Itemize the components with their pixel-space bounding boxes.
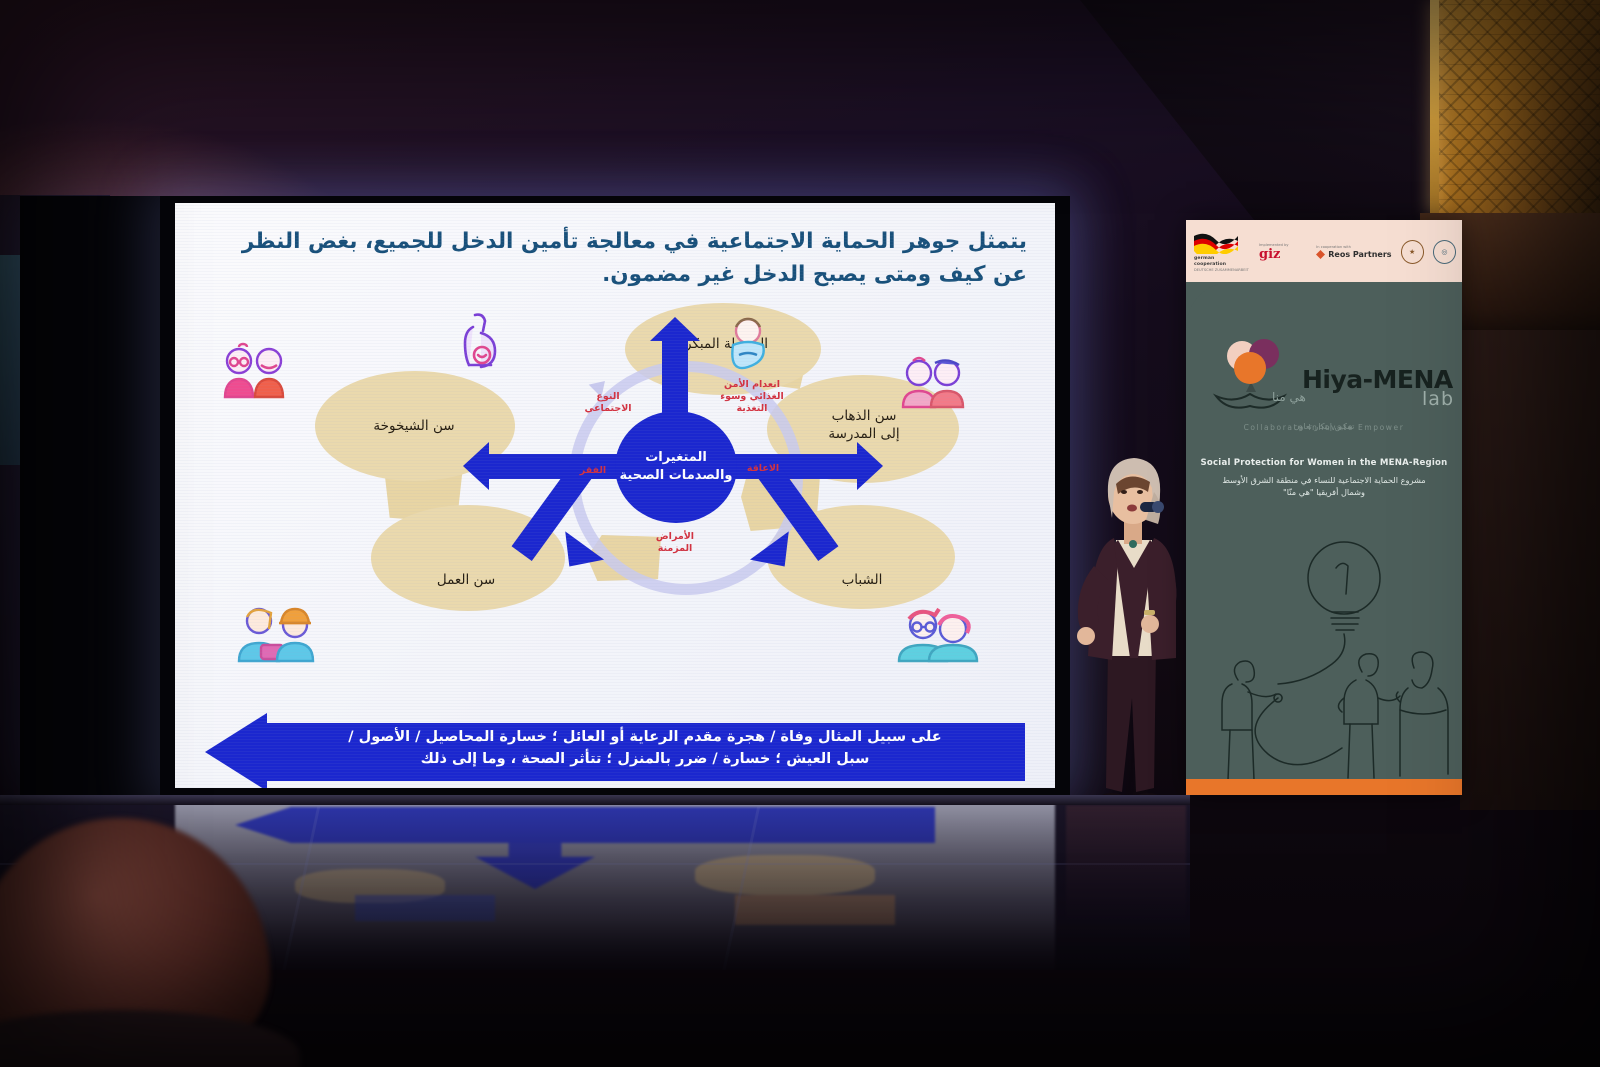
balloons-in-hand-logo — [1212, 332, 1298, 418]
lobe-label-working-age: سن العمل — [373, 571, 559, 589]
risk-label-food-insecurity: انعدام الأمن الغذائي وسوء التغذية — [715, 379, 789, 415]
two-children-icon — [897, 351, 969, 409]
banner-line-2: سبل العيش ؛ خسارة / ضرر بالمنزل ؛ تتأثر … — [275, 749, 1015, 771]
poster-logo-row: german cooperation DEUTSCHE ZUSAMMENARBE… — [1194, 228, 1456, 276]
lobe-label-old-age: سن الشيخوخة — [317, 417, 511, 435]
poster-heading-ar: مشروع الحماية الاجتماعية للنساء في منطقة… — [1194, 474, 1454, 499]
german-cooperation-sublabel: DEUTSCHE ZUSAMMENARBEIT — [1194, 268, 1250, 272]
elderly-couple-icon — [217, 341, 291, 399]
projected-slide: يتمثل جوهر الحماية الاجتماعية في معالجة … — [175, 203, 1055, 788]
women-lightbulb-illustration — [1186, 512, 1462, 780]
poster-heading-ar-line1: مشروع الحماية الاجتماعية للنساء في منطقة… — [1194, 474, 1454, 486]
poster-heading-ar-line2: وشمال أفريقيا "هي منّا" — [1194, 486, 1454, 498]
lobe-label-school-age: سن الذهاب إلى المدرسة — [775, 407, 953, 443]
speaker-presenter — [1060, 448, 1200, 840]
swaddled-baby-icon — [723, 315, 773, 371]
diagram-hub-label: المتغيرات والصدمات الصحية — [620, 449, 733, 484]
banner-text: على سبيل المثال وفاة / هجرة مقدم الرعاية… — [275, 727, 1015, 771]
diagram-hub: المتغيرات والصدمات الصحية — [615, 411, 737, 523]
brand-arabic: هي منا — [1272, 390, 1382, 404]
reos-partners-logo: In cooperation with Reos Partners — [1316, 245, 1391, 258]
risk-label-gender: النوع الاجتماعي — [575, 391, 641, 415]
pregnant-woman-icon — [455, 311, 505, 381]
arrow-left-head — [463, 442, 489, 490]
gold-lattice-panel — [1430, 0, 1600, 215]
risk-label-poverty: الفقر — [567, 465, 619, 477]
stage-edge — [0, 795, 1190, 805]
giz-logo: Implemented by giz — [1259, 243, 1307, 260]
workers-icon — [235, 601, 319, 663]
event-poster-banner: german cooperation DEUTSCHE ZUSAMMENARBE… — [1186, 220, 1462, 795]
german-cooperation-label: german cooperation — [1194, 256, 1250, 267]
right-wall-block — [1460, 330, 1600, 810]
poster-tagline-ar: تمكين إبتكار تعاون — [1186, 422, 1462, 431]
slide-title: يتمثل جوهر الحماية الاجتماعية في معالجة … — [217, 225, 1027, 292]
bottom-banner: على سبيل المثال وفاة / هجرة مقدم الرعاية… — [205, 719, 1025, 785]
reos-mark-icon — [1316, 250, 1325, 259]
reos-wordmark: Reos Partners — [1328, 250, 1391, 259]
lobe-label-youth: الشباب — [773, 571, 951, 589]
two-youths-icon — [893, 603, 979, 663]
arrow-right-head — [857, 442, 883, 490]
conference-stage-photo: يتمثل جوهر الحماية الاجتماعية في معالجة … — [0, 0, 1600, 1067]
gold-panel-edge-light — [1430, 0, 1439, 215]
ministry-seal-logo: ★ — [1401, 240, 1424, 264]
banner-arrow-tip — [205, 713, 267, 788]
poster-orange-footer — [1186, 779, 1462, 795]
arrow-up-head — [650, 317, 700, 341]
partner-seal-logo: ◎ — [1433, 240, 1456, 264]
risk-label-disability: الاعاقة — [735, 463, 791, 475]
german-flag-swoosh — [1194, 232, 1238, 256]
banner-line-1: على سبيل المثال وفاة / هجرة مقدم الرعاية… — [275, 727, 1015, 749]
german-cooperation-logo: german cooperation DEUTSCHE ZUSAMMENARBE… — [1194, 232, 1250, 272]
giz-wordmark: giz — [1259, 248, 1307, 261]
poster-heading-en: Social Protection for Women in the MENA-… — [1194, 458, 1454, 468]
risk-label-chronic-disease: الأمراض المزمنة — [637, 531, 713, 555]
